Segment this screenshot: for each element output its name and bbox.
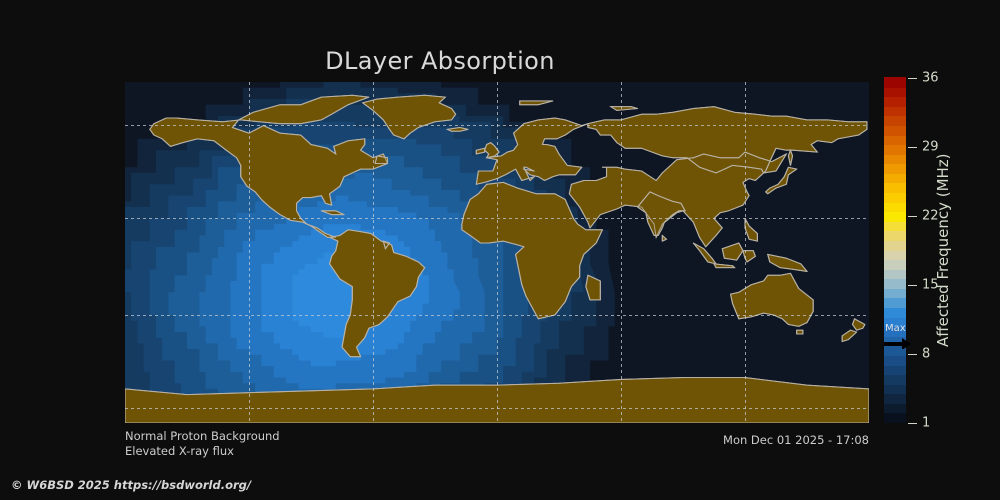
colorbar-segment bbox=[884, 173, 906, 183]
dlayer-absorption-page: DLayer Absorption Affected Frequency (MH… bbox=[0, 0, 1000, 500]
colorbar-segment bbox=[884, 279, 906, 289]
colorbar-segment bbox=[884, 97, 906, 107]
colorbar-tick-label: 1 bbox=[922, 416, 930, 431]
colorbar-segment bbox=[884, 87, 906, 97]
max-marker-label: Max bbox=[885, 324, 906, 334]
colorbar[interactable] bbox=[884, 78, 906, 423]
colorbar-tick-label: 29 bbox=[922, 140, 939, 155]
colorbar-segment bbox=[884, 288, 906, 298]
colorbar-segment bbox=[884, 240, 906, 250]
colorbar-segment bbox=[884, 116, 906, 126]
colorbar-segment bbox=[884, 231, 906, 241]
colorbar-segment bbox=[884, 413, 906, 423]
colorbar-segment bbox=[884, 403, 906, 413]
colorbar-tick bbox=[908, 285, 917, 286]
colorbar-tick-label: 22 bbox=[922, 209, 939, 224]
copyright-footer: © W6BSD 2025 https://bsdworld.org/ bbox=[11, 478, 251, 492]
colorbar-segment bbox=[884, 145, 906, 155]
landmass-tas bbox=[797, 330, 803, 334]
colorbar-segment bbox=[884, 183, 906, 193]
colorbar-tick-label: 36 bbox=[922, 71, 939, 86]
colorbar-max-marker: Max bbox=[884, 326, 912, 352]
colorbar-segment bbox=[884, 307, 906, 317]
colorbar-segment bbox=[884, 164, 906, 174]
colorbar-segment bbox=[884, 202, 906, 212]
caption-proton-background: Normal Proton Background bbox=[125, 429, 280, 444]
colorbar-segment bbox=[884, 384, 906, 394]
colorbar-tick-label: 8 bbox=[922, 347, 930, 362]
colorbar-tick bbox=[908, 354, 917, 355]
colorbar-segment bbox=[884, 269, 906, 279]
status-captions: Normal Proton Background Elevated X-ray … bbox=[125, 429, 280, 459]
colorbar-tick bbox=[908, 78, 917, 79]
colorbar-title: Affected Frequency (MHz) bbox=[931, 78, 955, 423]
colorbar-tick bbox=[908, 216, 917, 217]
colorbar-segment bbox=[884, 394, 906, 404]
colorbar-segment bbox=[884, 77, 906, 87]
colorbar-segment bbox=[884, 221, 906, 231]
colorbar-segment bbox=[884, 365, 906, 375]
map-canvas bbox=[125, 82, 869, 423]
colorbar-segment bbox=[884, 154, 906, 164]
colorbar-segment bbox=[884, 260, 906, 270]
colorbar-segment bbox=[884, 212, 906, 222]
page-title: DLayer Absorption bbox=[0, 47, 880, 75]
colorbar-segment bbox=[884, 192, 906, 202]
arrow-right-icon bbox=[884, 337, 911, 349]
caption-xray-flux: Elevated X-ray flux bbox=[125, 444, 280, 459]
colorbar-tick-label: 15 bbox=[922, 278, 939, 293]
colorbar-segment bbox=[884, 106, 906, 116]
colorbar-tick bbox=[908, 147, 917, 148]
world-map[interactable] bbox=[125, 82, 869, 423]
timestamp: Mon Dec 01 2025 - 17:08 bbox=[569, 433, 869, 447]
colorbar-segment bbox=[884, 375, 906, 385]
colorbar-tick bbox=[908, 423, 917, 424]
colorbar-segment bbox=[884, 355, 906, 365]
colorbar-segment bbox=[884, 125, 906, 135]
colorbar-segment bbox=[884, 135, 906, 145]
colorbar-segment bbox=[884, 298, 906, 308]
colorbar-segment bbox=[884, 250, 906, 260]
